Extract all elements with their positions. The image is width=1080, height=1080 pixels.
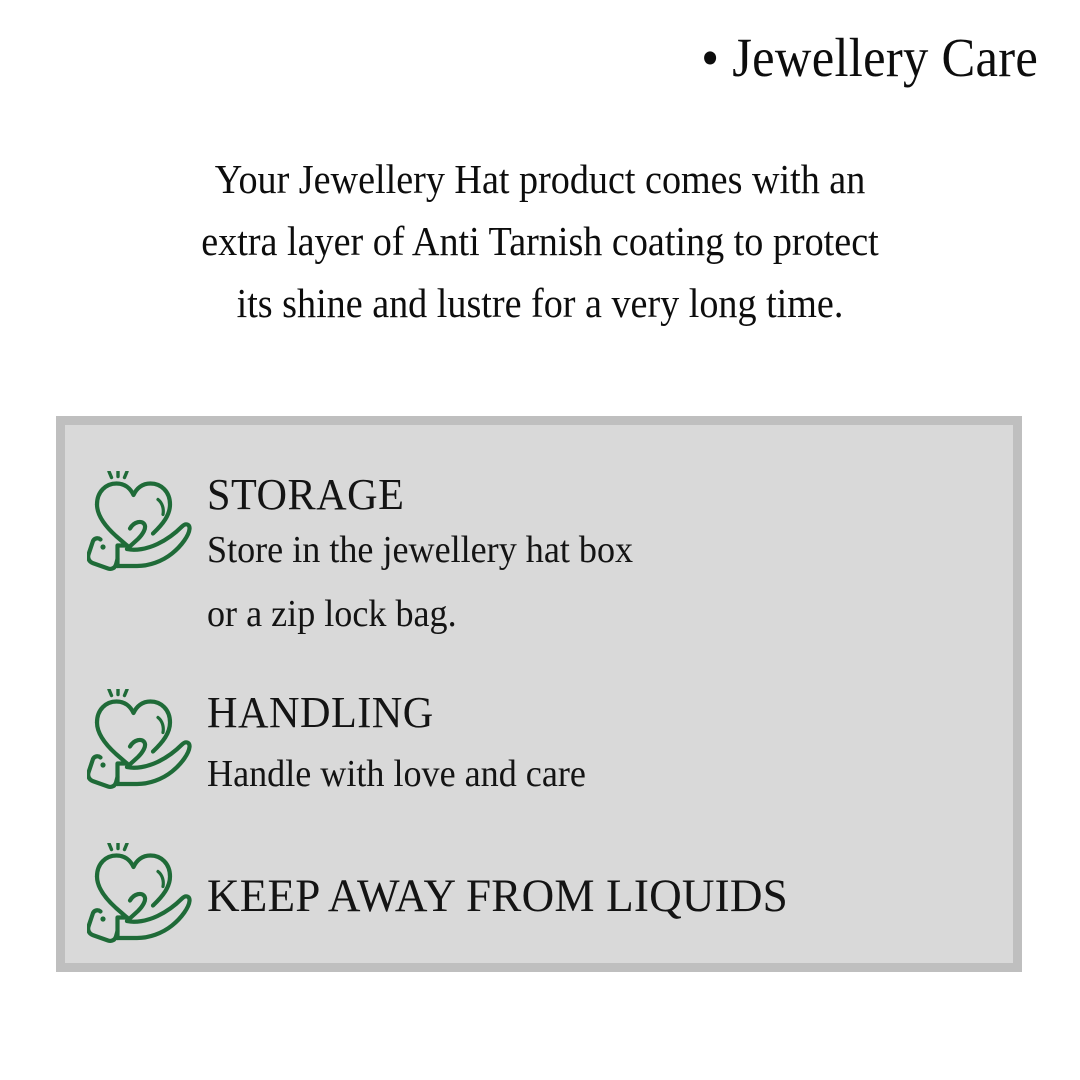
care-detail-handling-1: Handle with love and care xyxy=(207,739,954,809)
page-header: • Jewellery Care xyxy=(0,0,1080,90)
page-title: • Jewellery Care xyxy=(701,26,1038,90)
intro-line-1: Your Jewellery Hat product comes with an xyxy=(103,148,977,210)
care-heading-liquids: KEEP AWAY FROM LIQUIDS xyxy=(207,867,962,925)
care-row-liquids: KEEP AWAY FROM LIQUIDS xyxy=(87,843,993,947)
care-heading-storage: STORAGE xyxy=(207,469,962,521)
hand-holding-heart-icon xyxy=(87,471,193,575)
care-detail-storage-1: Store in the jewellery hat box xyxy=(207,521,954,579)
care-text-storage: STORAGE Store in the jewellery hat box o… xyxy=(207,467,993,649)
intro-line-2: extra layer of Anti Tarnish coating to p… xyxy=(103,210,977,272)
hand-holding-heart-icon xyxy=(87,843,193,947)
intro-line-3: its shine and lustre for a very long tim… xyxy=(103,272,977,334)
care-row-handling: HANDLING Handle with love and care xyxy=(87,685,993,809)
care-text-liquids: KEEP AWAY FROM LIQUIDS xyxy=(207,865,993,925)
care-instructions-panel: STORAGE Store in the jewellery hat box o… xyxy=(56,416,1022,972)
intro-paragraph: Your Jewellery Hat product comes with an… xyxy=(0,148,1080,334)
care-detail-storage-2: or a zip lock bag. xyxy=(207,579,954,649)
care-heading-handling: HANDLING xyxy=(207,687,962,739)
care-row-storage: STORAGE Store in the jewellery hat box o… xyxy=(87,467,993,649)
care-text-handling: HANDLING Handle with love and care xyxy=(207,685,993,809)
hand-holding-heart-icon xyxy=(87,689,193,793)
